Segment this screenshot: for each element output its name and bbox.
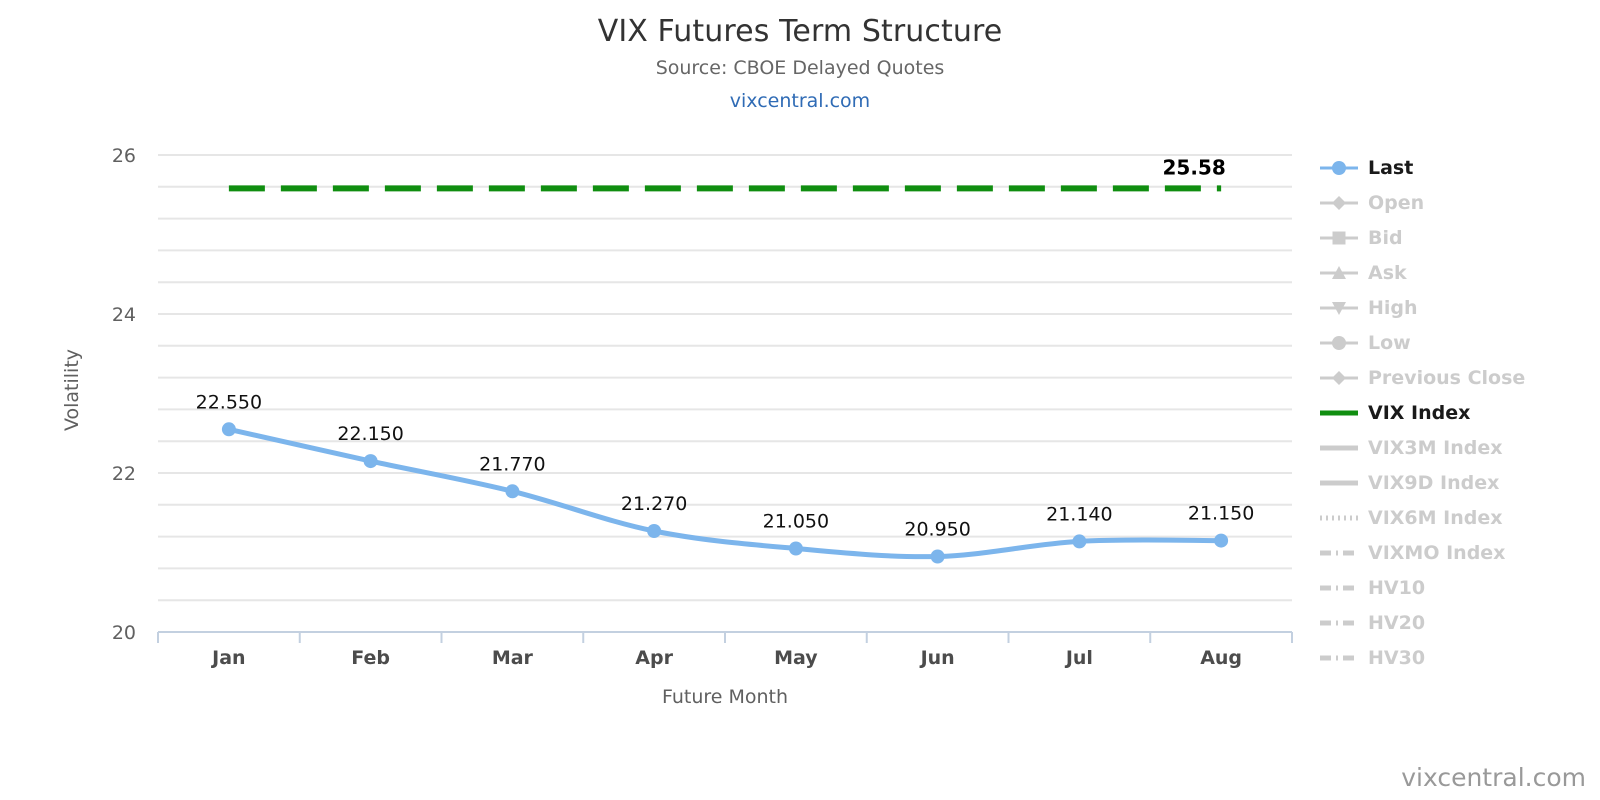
legend-marker-none-icon [1318, 508, 1360, 528]
y-axis-tick-labels: 20222426 [112, 145, 136, 644]
legend-marker-none-icon [1318, 438, 1360, 458]
legend-marker-none-icon [1318, 648, 1360, 668]
legend-item-vixmo-index[interactable]: VIXMO Index [1318, 535, 1598, 570]
legend-item-label: Last [1368, 157, 1413, 179]
legend-marker-triangle-down-icon [1318, 298, 1360, 318]
legend-item-label: VIX9D Index [1368, 472, 1499, 494]
x-axis-category: Feb [351, 647, 390, 669]
data-point-label: 21.270 [621, 493, 687, 515]
x-axis [158, 632, 1292, 643]
legend-item-label: VIX6M Index [1368, 507, 1503, 529]
legend-item-label: VIXMO Index [1368, 542, 1505, 564]
legend-item-label: High [1368, 297, 1418, 319]
legend-marker-none-icon [1318, 543, 1360, 563]
legend-marker-none-icon [1318, 578, 1360, 598]
y-axis-tick: 20 [112, 622, 136, 644]
data-point[interactable] [222, 422, 236, 436]
legend-item-ask[interactable]: Ask [1318, 255, 1598, 290]
data-point[interactable] [647, 524, 661, 538]
legend-marker-none-icon [1318, 403, 1360, 423]
legend-item-bid[interactable]: Bid [1318, 220, 1598, 255]
legend-item-open[interactable]: Open [1318, 185, 1598, 220]
chart-legend[interactable]: LastOpenBidAskHighLowPrevious CloseVIX I… [1318, 150, 1598, 675]
watermark: vixcentral.com [1401, 763, 1586, 792]
y-axis-tick: 26 [112, 145, 136, 167]
legend-item-label: Ask [1368, 262, 1407, 284]
legend-item-label: HV10 [1368, 577, 1425, 599]
data-point[interactable] [931, 550, 945, 564]
legend-item-label: HV20 [1368, 612, 1425, 634]
data-point-label: 21.150 [1188, 503, 1254, 525]
data-point[interactable] [789, 542, 803, 556]
legend-item-low[interactable]: Low [1318, 325, 1598, 360]
legend-marker-none-icon [1318, 473, 1360, 493]
y-axis-tick: 24 [112, 304, 136, 326]
x-axis-category-labels: JanFebMarAprMayJunJulAug [210, 647, 1242, 669]
series-data-labels: 22.55022.15021.77021.27021.05020.95021.1… [196, 391, 1255, 540]
legend-marker-circle-icon [1318, 158, 1360, 178]
x-axis-category: Jul [1064, 647, 1093, 669]
x-axis-category: Jan [210, 647, 245, 669]
legend-marker-diamond-icon [1318, 193, 1360, 213]
legend-item-previous-close[interactable]: Previous Close [1318, 360, 1598, 395]
legend-item-label: Low [1368, 332, 1411, 354]
legend-marker-circle-icon [1318, 333, 1360, 353]
data-point-label: 22.150 [337, 423, 403, 445]
legend-item-vix-index[interactable]: VIX Index [1318, 395, 1598, 430]
reference-line-vix-index: 25.58 [229, 155, 1226, 188]
legend-item-vix9d-index[interactable]: VIX9D Index [1318, 465, 1598, 500]
data-point-label: 20.950 [904, 518, 970, 540]
legend-item-label: VIX Index [1368, 402, 1470, 424]
legend-item-label: Previous Close [1368, 367, 1525, 389]
legend-item-vix3m-index[interactable]: VIX3M Index [1318, 430, 1598, 465]
data-point[interactable] [505, 484, 519, 498]
legend-item-hv30[interactable]: HV30 [1318, 640, 1598, 675]
data-point-label: 21.770 [479, 453, 545, 475]
legend-marker-none-icon [1318, 613, 1360, 633]
x-axis-title: Future Month [662, 686, 788, 708]
y-axis-tick: 22 [112, 463, 136, 485]
legend-marker-diamond-icon [1318, 368, 1360, 388]
data-point-label: 21.140 [1046, 503, 1112, 525]
data-point[interactable] [1072, 534, 1086, 548]
legend-item-label: VIX3M Index [1368, 437, 1503, 459]
x-axis-category: Jun [919, 647, 955, 669]
legend-marker-square-icon [1318, 228, 1360, 248]
legend-item-hv20[interactable]: HV20 [1318, 605, 1598, 640]
gridlines-major [158, 155, 1292, 473]
data-point[interactable] [364, 454, 378, 468]
legend-item-hv10[interactable]: HV10 [1318, 570, 1598, 605]
legend-item-high[interactable]: High [1318, 290, 1598, 325]
y-axis-title: Volatility [61, 349, 83, 431]
legend-item-last[interactable]: Last [1318, 150, 1598, 185]
x-axis-category: Aug [1200, 647, 1242, 669]
reference-line-label: 25.58 [1162, 155, 1225, 179]
data-point-label: 22.550 [196, 391, 262, 413]
x-axis-category: Apr [635, 647, 673, 669]
legend-marker-triangle-icon [1318, 263, 1360, 283]
x-axis-category: Mar [492, 647, 534, 669]
legend-item-label: Open [1368, 192, 1424, 214]
legend-item-label: HV30 [1368, 647, 1425, 669]
legend-item-vix6m-index[interactable]: VIX6M Index [1318, 500, 1598, 535]
data-point[interactable] [1214, 534, 1228, 548]
data-point-label: 21.050 [763, 511, 829, 533]
x-axis-category: May [774, 647, 818, 669]
legend-item-label: Bid [1368, 227, 1403, 249]
